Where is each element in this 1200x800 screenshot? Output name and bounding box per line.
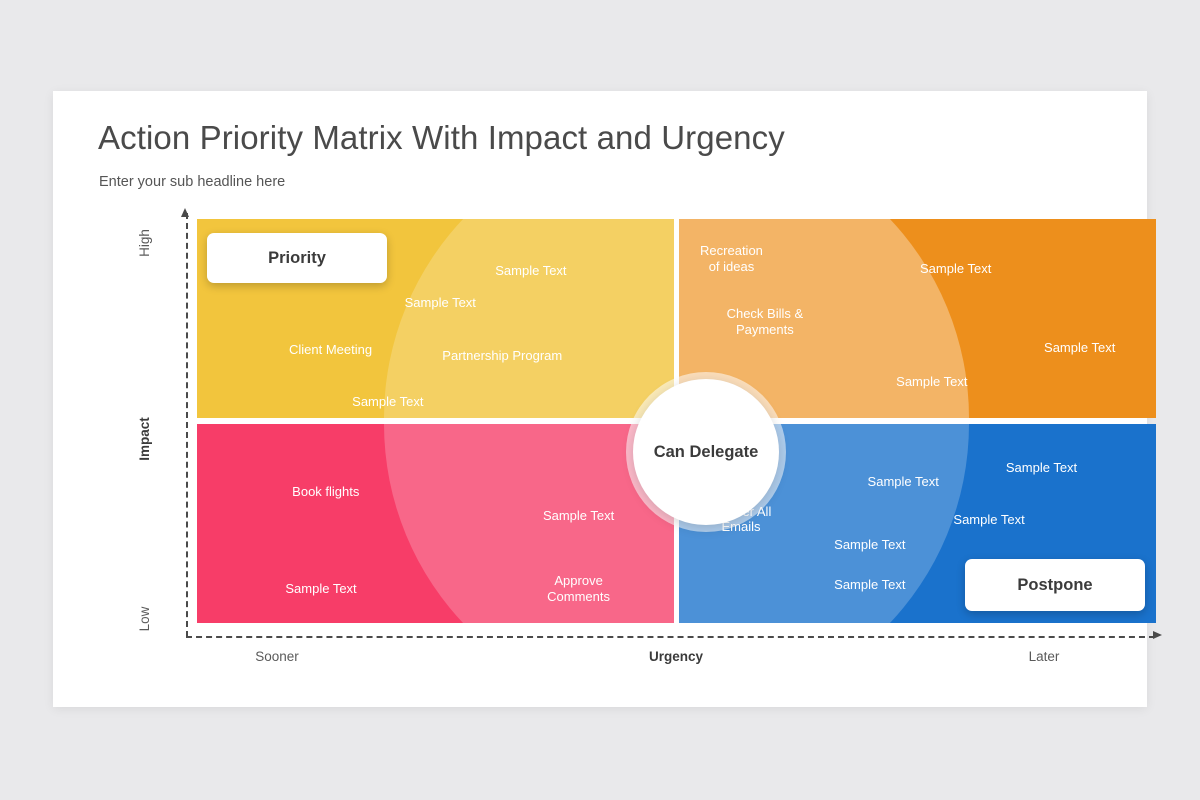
priority-badge[interactable]: Priority bbox=[207, 233, 387, 283]
quadrant-bottom-left[interactable]: Book flightsSample TextSample TextApprov… bbox=[197, 424, 674, 623]
matrix-item: Sample Text bbox=[953, 512, 1024, 528]
y-axis-low-label: Low bbox=[137, 607, 152, 632]
y-axis-title: Impact bbox=[137, 417, 152, 461]
matrix-item: Recreation of ideas bbox=[700, 243, 763, 275]
matrix-item: Sample Text bbox=[405, 295, 476, 311]
quadrant-top-left[interactable]: Sample TextSample TextClient MeetingPart… bbox=[197, 219, 674, 418]
y-axis-arrow-icon bbox=[181, 208, 189, 217]
matrix-item: Sample Text bbox=[1006, 460, 1077, 476]
x-axis-title: Urgency bbox=[649, 649, 703, 664]
y-axis-line bbox=[186, 213, 188, 637]
matrix-item: Sample Text bbox=[543, 508, 614, 524]
x-axis-line bbox=[186, 636, 1155, 638]
center-hub-label: Can Delegate bbox=[633, 379, 779, 525]
center-hub[interactable]: Can Delegate bbox=[626, 372, 786, 532]
matrix-item: Sample Text bbox=[285, 581, 356, 597]
y-axis-high-label: High bbox=[137, 229, 152, 257]
x-axis-later-label: Later bbox=[1029, 649, 1060, 664]
matrix-item: Sample Text bbox=[834, 577, 905, 593]
quadrant-arc-overlay bbox=[384, 219, 674, 418]
matrix-item: Sample Text bbox=[896, 374, 967, 390]
matrix-item: Sample Text bbox=[868, 474, 939, 490]
matrix-item: Approve Comments bbox=[531, 573, 626, 605]
x-axis-arrow-icon bbox=[1153, 631, 1162, 639]
matrix-item: Client Meeting bbox=[289, 342, 372, 358]
page-subtitle: Enter your sub headline here bbox=[99, 174, 285, 190]
matrix-item: Sample Text bbox=[920, 261, 991, 277]
matrix-item: Sample Text bbox=[1044, 340, 1115, 356]
matrix-item: Check Bills & Payments bbox=[727, 307, 804, 339]
x-axis-sooner-label: Sooner bbox=[255, 649, 299, 664]
matrix-item: Sample Text bbox=[834, 537, 905, 553]
matrix-item: Sample Text bbox=[495, 263, 566, 279]
matrix-item: Sample Text bbox=[352, 394, 423, 410]
matrix-item: Partnership Program bbox=[442, 348, 562, 364]
page-title: Action Priority Matrix With Impact and U… bbox=[98, 119, 785, 157]
postpone-badge[interactable]: Postpone bbox=[965, 559, 1145, 611]
slide-card: Action Priority Matrix With Impact and U… bbox=[53, 91, 1147, 707]
matrix-item: Book flights bbox=[292, 484, 359, 500]
priority-matrix: High Impact Low Sooner Urgency Later Sam… bbox=[145, 219, 1103, 625]
